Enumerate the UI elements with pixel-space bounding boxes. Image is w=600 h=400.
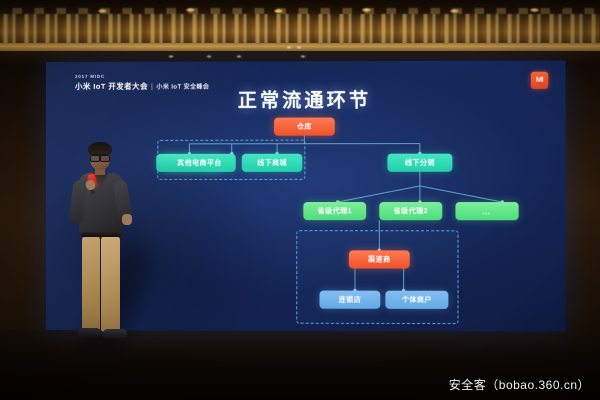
edge-dist-agent1 [338, 186, 420, 202]
downlight [296, 46, 302, 49]
ceiling-light [530, 8, 539, 12]
ceiling-light [450, 9, 459, 13]
ceiling-ornament-band [0, 14, 600, 44]
node-other-ec-platform[interactable]: 其他电商平台 [163, 154, 235, 172]
speaker-belt [81, 232, 121, 237]
edge-dist-more [420, 186, 502, 202]
slide-title: 正常流通环节 [46, 85, 566, 113]
node-offline-distribution[interactable]: 线下分销 [387, 154, 452, 172]
node-warehouse[interactable]: 仓库 [274, 118, 335, 136]
node-chain-store[interactable]: 连锁店 [320, 291, 381, 309]
downlight [236, 55, 242, 58]
speaker-leg-left [82, 236, 100, 332]
speaker-person [62, 140, 154, 360]
photo-scene: 2017 MIDC 小米 IoT 开发者大会|小米 IoT 安全峰会 MI 正常… [0, 0, 600, 400]
speaker-hand-right [122, 214, 132, 225]
ceiling-light [98, 9, 107, 13]
watermark-text: 安全客（bobao.360.cn） [449, 376, 590, 393]
speaker-shoe-left [78, 328, 102, 337]
node-individual-merchant[interactable]: 个体商户 [385, 291, 448, 309]
node-provincial-agent-more[interactable]: … [455, 202, 518, 220]
node-provincial-agent-2[interactable]: 省级代理2 [379, 202, 442, 220]
downlight [206, 55, 212, 58]
speaker-shoe-right [102, 329, 127, 338]
downlight [168, 55, 174, 58]
speaker-leg-right [101, 236, 120, 332]
event-kicker: 2017 MIDC [75, 74, 209, 79]
downlight [300, 55, 306, 58]
downlight [286, 46, 292, 49]
node-channel-merchant[interactable]: 渠道商 [349, 250, 410, 268]
ceiling-light [186, 8, 195, 12]
speaker-glasses [90, 154, 110, 159]
mi-logo-text: MI [536, 77, 543, 84]
ceiling-light [274, 9, 283, 13]
ceiling-light [362, 8, 371, 12]
node-offline-mall[interactable]: 线下商城 [242, 154, 303, 172]
node-provincial-agent-1[interactable]: 省级代理1 [303, 202, 366, 220]
